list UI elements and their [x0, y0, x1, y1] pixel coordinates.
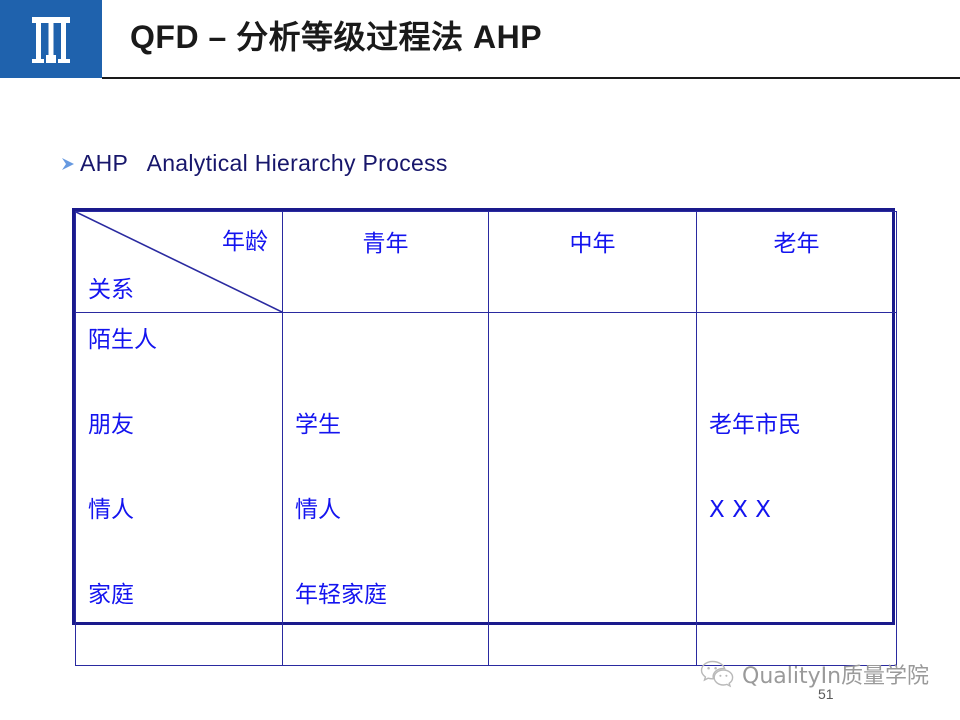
footer-brand: QualityIn质量学院: [700, 658, 929, 690]
column-header-youth: 青年: [283, 212, 489, 313]
cell-youth-friend: 学生: [295, 410, 488, 495]
cell-middleage-lover: [501, 495, 696, 580]
cells-middleage: [489, 313, 697, 666]
table-header-row: 年龄 关系 青年 中年 老年: [76, 212, 897, 313]
institution-gate-logo-icon: [28, 13, 74, 65]
wechat-icon: [700, 660, 734, 688]
cell-elderly-family: [709, 580, 896, 665]
header-corner-bottom-label: 关系: [88, 270, 134, 304]
brand-logo: [0, 0, 102, 78]
row-label-family: 家庭: [88, 580, 282, 665]
bullet-line: AHP Analytical Hierarchy Process: [60, 150, 448, 177]
page-number: 51: [818, 686, 834, 702]
cells-youth: 学生 情人 年轻家庭: [283, 313, 489, 666]
page-title-text: QFD – 分析等级过程法 AHP: [130, 19, 542, 55]
cell-middleage-family: [501, 580, 696, 665]
row-label-lover: 情人: [88, 495, 282, 580]
slide-header: QFD – 分析等级过程法 AHP: [0, 0, 960, 82]
table-body-row: 陌生人 朋友 情人 家庭 学生 情人 年轻家庭 老年市民 X X X: [76, 313, 897, 666]
row-label-friend: 朋友: [88, 410, 282, 495]
column-header-elderly: 老年: [697, 212, 897, 313]
header-corner-cell: 年龄 关系: [76, 212, 283, 313]
header-divider: [102, 77, 960, 79]
ahp-matrix-table: 年龄 关系 青年 中年 老年 陌生人 朋友 情人 家庭 学生 情人 年轻家庭: [72, 208, 895, 625]
page-title: QFD – 分析等级过程法 AHP: [130, 12, 542, 58]
row-label-stranger: 陌生人: [88, 325, 282, 410]
header-corner-top-label: 年龄: [222, 222, 268, 256]
cell-youth-lover: 情人: [295, 495, 488, 580]
cell-elderly-friend: 老年市民: [709, 410, 896, 495]
cell-middleage-stranger: [501, 325, 696, 410]
cells-elderly: 老年市民 X X X: [697, 313, 897, 666]
arrow-bullet-icon: [60, 156, 76, 172]
cell-elderly-stranger: [709, 325, 896, 410]
brand-name: QualityIn质量学院: [742, 658, 929, 690]
cell-elderly-lover: X X X: [709, 495, 896, 580]
cell-middleage-friend: [501, 410, 696, 495]
cell-youth-family: 年轻家庭: [295, 580, 488, 665]
cell-youth-stranger: [295, 325, 488, 410]
column-header-middleage: 中年: [489, 212, 697, 313]
bullet-label: AHP Analytical Hierarchy Process: [80, 150, 448, 177]
row-labels-cell: 陌生人 朋友 情人 家庭: [76, 313, 283, 666]
